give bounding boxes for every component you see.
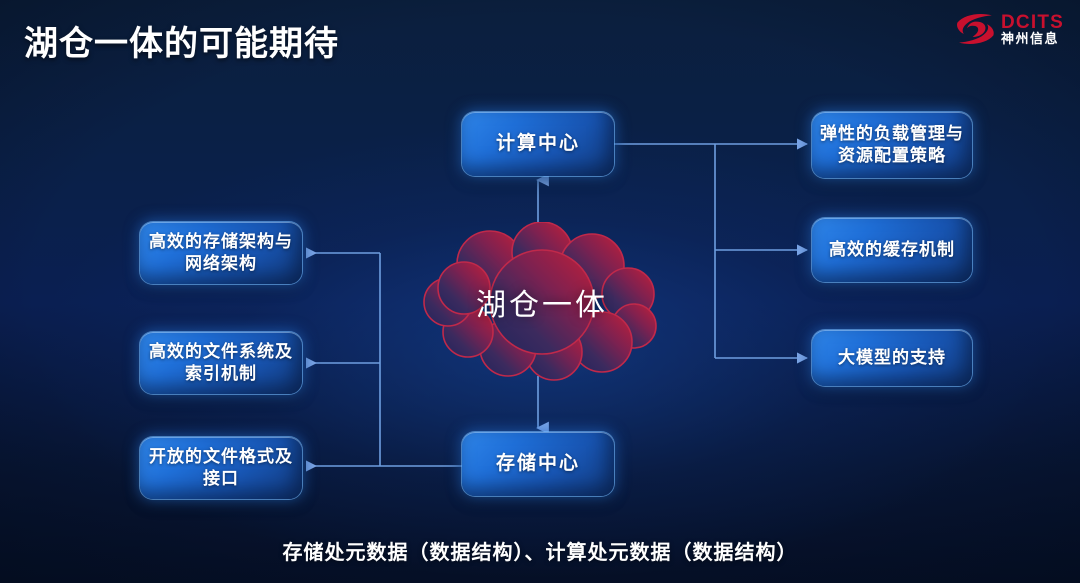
cloud-center-label: 湖仓一体 <box>412 222 672 382</box>
node-storage-architecture-label: 高效的存储架构与网络架构 <box>148 231 294 275</box>
node-cache-mechanism-label: 高效的缓存机制 <box>829 239 955 261</box>
node-large-model-support-label: 大模型的支持 <box>838 347 946 369</box>
node-file-system-index-label: 高效的文件系统及索引机制 <box>148 341 294 385</box>
node-elastic-workload-label: 弹性的负载管理与资源配置策略 <box>820 123 964 167</box>
node-cache-mechanism[interactable]: 高效的缓存机制 <box>812 218 972 282</box>
footer-caption: 存储处元数据（数据结构）、计算处元数据（数据结构） <box>0 536 1080 565</box>
node-storage-architecture[interactable]: 高效的存储架构与网络架构 <box>140 222 302 284</box>
node-storage-center[interactable]: 存储中心 <box>462 432 614 496</box>
node-compute-center[interactable]: 计算中心 <box>462 112 614 176</box>
node-elastic-workload[interactable]: 弹性的负载管理与资源配置策略 <box>812 112 972 178</box>
node-file-system-index[interactable]: 高效的文件系统及索引机制 <box>140 332 302 394</box>
node-open-file-format-label: 开放的文件格式及接口 <box>148 446 294 490</box>
node-compute-center-label: 计算中心 <box>496 132 580 156</box>
node-storage-center-label: 存储中心 <box>496 452 580 476</box>
slide-canvas: 湖仓一体的可能期待 DCITS 神州信息 <box>0 0 1080 583</box>
node-large-model-support[interactable]: 大模型的支持 <box>812 330 972 386</box>
node-open-file-format[interactable]: 开放的文件格式及接口 <box>140 437 302 499</box>
